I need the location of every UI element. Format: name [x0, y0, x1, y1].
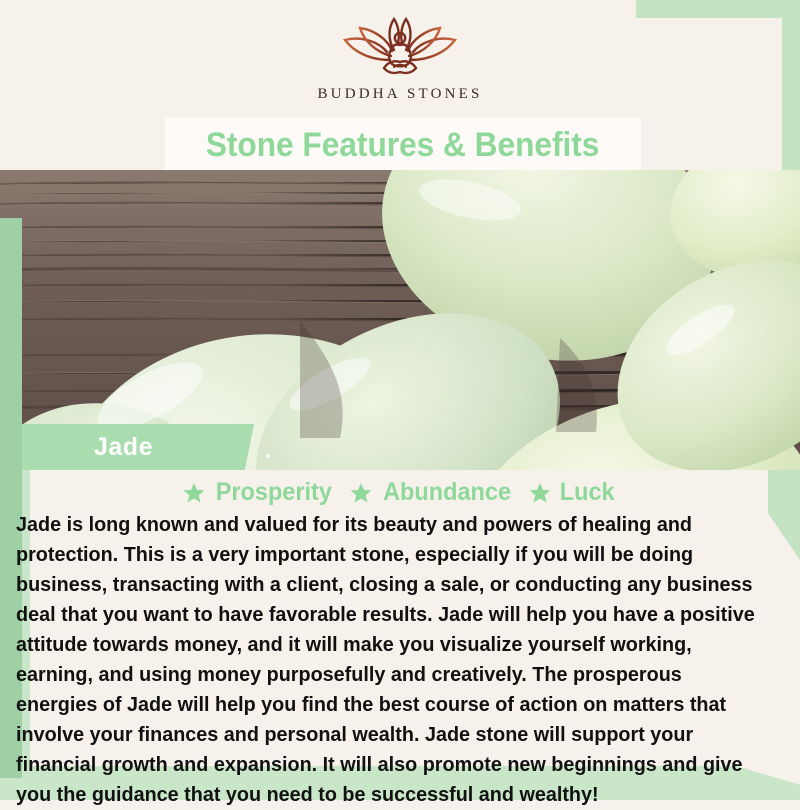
keyword-label: Abundance	[383, 478, 511, 507]
keyword-label: Luck	[560, 478, 615, 507]
star-icon	[183, 482, 205, 504]
brand-name: BUDDHA STONES	[317, 86, 482, 103]
keyword-item-prosperity: Prosperity	[183, 478, 336, 507]
keyword-item-luck: Luck	[529, 478, 616, 507]
star-icon	[350, 482, 372, 504]
description-paragraph: Jade is long known and valued for its be…	[16, 510, 761, 810]
keyword-label: Prosperity	[216, 478, 332, 507]
keyword-list: Prosperity Abundance Luck	[0, 478, 800, 507]
stone-name-badge: Jade	[22, 424, 254, 470]
star-icon	[529, 482, 551, 504]
brand-logo: BUDDHA STONES	[0, 0, 800, 118]
infographic-card: BUDDHA STONES Stone Features & Benefits	[0, 0, 800, 800]
lotus-meditating-figure-icon	[334, 16, 466, 82]
page-title: Stone Features & Benefits	[165, 118, 641, 172]
page-title-text: Stone Features & Benefits	[206, 126, 600, 165]
keyword-item-abundance: Abundance	[350, 478, 515, 507]
stone-name-label: Jade	[94, 433, 153, 462]
